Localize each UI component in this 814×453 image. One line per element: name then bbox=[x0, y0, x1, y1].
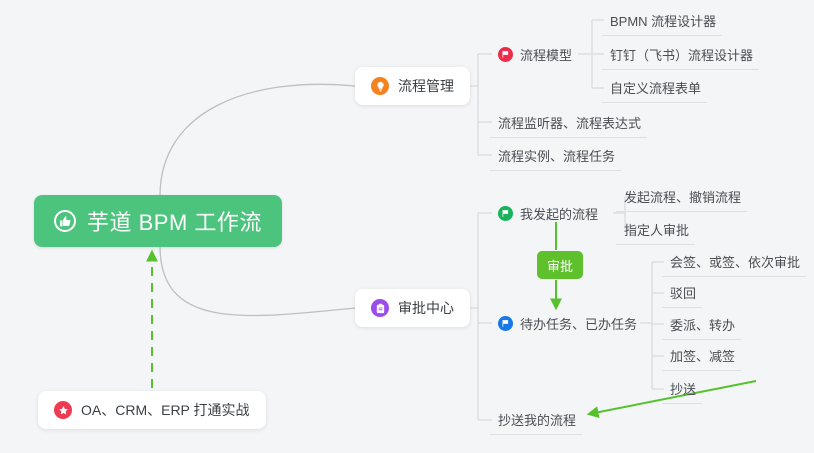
leaf-start-cancel-process[interactable]: 发起流程、撤销流程 bbox=[616, 182, 747, 212]
leaf-label: 抄送 bbox=[670, 379, 696, 398]
clipboard-icon bbox=[371, 299, 389, 317]
leaf-label: 自定义流程表单 bbox=[610, 78, 701, 97]
lightbulb-icon bbox=[371, 77, 389, 95]
leaf-label: 加签、减签 bbox=[670, 346, 735, 365]
leaf-reject[interactable]: 驳回 bbox=[662, 278, 702, 308]
leaf-label: 钉钉（飞书）流程设计器 bbox=[610, 45, 753, 64]
branch-label: 审批中心 bbox=[398, 298, 454, 318]
leaf-countersign[interactable]: 会签、或签、依次审批 bbox=[662, 247, 806, 277]
node-process-instance[interactable]: 流程实例、流程任务 bbox=[490, 141, 621, 171]
branch-node-process-management[interactable]: 流程管理 bbox=[355, 67, 470, 105]
leaf-label: 指定人审批 bbox=[624, 220, 689, 239]
leaf-add-remove-sign[interactable]: 加签、减签 bbox=[662, 341, 741, 371]
edge-root-to-approval-center bbox=[160, 246, 355, 316]
node-todo-done-tasks[interactable]: 待办任务、已办任务 bbox=[490, 308, 643, 338]
integration-label: OA、CRM、ERP 打通实战 bbox=[81, 400, 250, 420]
node-my-started-process[interactable]: 我发起的流程 bbox=[490, 198, 604, 228]
leaf-label: 委派、转办 bbox=[670, 315, 735, 334]
node-label: 流程监听器、流程表达式 bbox=[498, 113, 641, 132]
approval-tag-badge: 审批 bbox=[537, 251, 583, 279]
node-label: 我发起的流程 bbox=[520, 204, 598, 223]
branch-node-approval-center[interactable]: 审批中心 bbox=[355, 289, 470, 327]
node-label: 抄送我的流程 bbox=[498, 410, 576, 429]
node-cc-my-process[interactable]: 抄送我的流程 bbox=[490, 405, 582, 435]
leaf-bpmn-designer[interactable]: BPMN 流程设计器 bbox=[602, 6, 722, 36]
approval-tag-label: 审批 bbox=[547, 256, 573, 275]
leaf-label: BPMN 流程设计器 bbox=[610, 11, 716, 30]
leaf-delegate-transfer[interactable]: 委派、转办 bbox=[662, 310, 741, 340]
node-process-listener[interactable]: 流程监听器、流程表达式 bbox=[490, 108, 647, 138]
star-icon bbox=[54, 401, 72, 419]
leaf-dingtalk-feishu-designer[interactable]: 钉钉（飞书）流程设计器 bbox=[602, 40, 759, 70]
root-node[interactable]: 芋道 BPM 工作流 bbox=[34, 195, 282, 247]
flag-icon-blue bbox=[498, 316, 513, 331]
leaf-custom-form[interactable]: 自定义流程表单 bbox=[602, 73, 707, 103]
flag-icon-green bbox=[498, 206, 513, 221]
node-process-model[interactable]: 流程模型 bbox=[490, 39, 578, 69]
node-label: 流程实例、流程任务 bbox=[498, 146, 615, 165]
flag-icon-red bbox=[498, 47, 513, 62]
root-label: 芋道 BPM 工作流 bbox=[87, 205, 262, 237]
leaf-cc[interactable]: 抄送 bbox=[662, 374, 702, 404]
integration-node[interactable]: OA、CRM、ERP 打通实战 bbox=[38, 391, 266, 429]
leaf-label: 会签、或签、依次审批 bbox=[670, 252, 800, 271]
branch-label: 流程管理 bbox=[398, 76, 454, 96]
node-label: 流程模型 bbox=[520, 45, 572, 64]
leaf-label: 发起流程、撤销流程 bbox=[624, 187, 741, 206]
leaf-assigned-approver[interactable]: 指定人审批 bbox=[616, 215, 695, 245]
mindmap-canvas: 芋道 BPM 工作流 流程管理 流程模型 BPMN 流程设计器 钉钉（飞书）流程… bbox=[0, 0, 814, 453]
edge-root-to-process-management bbox=[160, 84, 355, 196]
thumbs-up-icon bbox=[54, 210, 76, 232]
leaf-label: 驳回 bbox=[670, 283, 696, 302]
node-label: 待办任务、已办任务 bbox=[520, 314, 637, 333]
